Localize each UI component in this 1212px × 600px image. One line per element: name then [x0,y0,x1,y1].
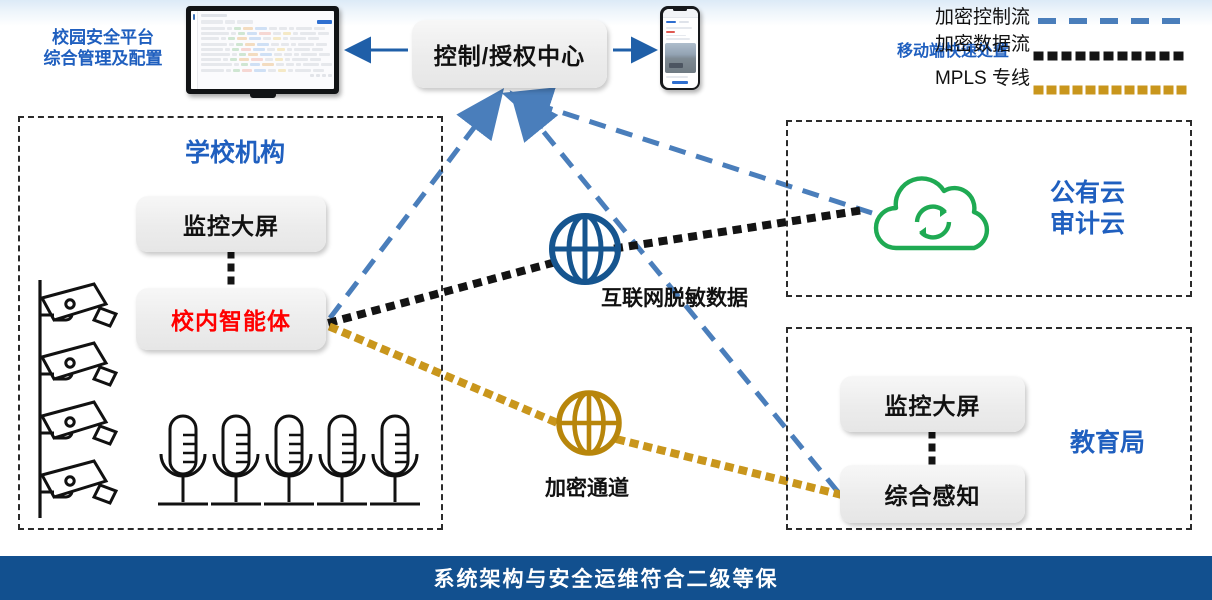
globe-icon-internet [547,211,623,287]
school-agent-box[interactable]: 校内智能体 [136,288,326,350]
platform-label-line1: 校园安全平台 [28,28,178,49]
legend-item-control-flow: 加密控制流 [900,8,1030,35]
microphone-icon [317,416,367,504]
school-monitor-screen-label: 监控大屏 [183,207,279,241]
cloud-region-label-line2: 审计云 [1050,209,1180,240]
school-monitor-screen-box[interactable]: 监控大屏 [136,196,326,252]
legend: 加密控制流 加密数据流 MPLS 专线 [900,8,1030,103]
cloud-region-label-line1: 公有云 [1050,178,1180,209]
control-center-label: 控制/授权中心 [434,37,585,71]
microphone-icon [370,416,420,504]
platform-label-line2: 综合管理及配置 [28,49,178,70]
microphone-icon [264,416,314,504]
bureau-comprehensive-sensing-box[interactable]: 综合感知 [840,465,1025,523]
platform-label: 校园安全平台 综合管理及配置 [28,28,178,69]
school-region-label: 学校机构 [110,138,360,169]
microphone-icon [211,416,261,504]
surveillance-camera-icon [40,461,116,503]
diagram-canvas: 校园安全平台 综合管理及配置 [0,0,1212,600]
surveillance-camera-icon [40,284,116,326]
bureau-comprehensive-sensing-label: 综合感知 [885,477,981,511]
bureau-monitor-screen-label: 监控大屏 [885,387,981,421]
microphone-icon [158,416,208,504]
surveillance-camera-icon [40,343,116,385]
compliance-banner-text: 系统架构与安全运维符合二级等保 [434,563,779,593]
top-gradient-strip [0,0,1212,26]
camera-group [30,278,140,520]
bureau-monitor-screen-box[interactable]: 监控大屏 [840,376,1025,432]
internet-node-label: 互联网脱敏数据 [601,282,748,312]
bureau-region-label: 教育局 [1070,428,1200,459]
mobile-phone-icon [660,6,700,90]
tunnel-node-label: 加密通道 [545,472,629,502]
compliance-banner: 系统架构与安全运维符合二级等保 [0,556,1212,600]
cloud-sync-icon [866,164,1006,256]
legend-item-mpls: MPLS 专线 [900,69,1030,103]
cloud-region-label: 公有云 审计云 [1050,178,1180,239]
surveillance-camera-icon [40,402,116,444]
desktop-monitor-icon [186,6,339,94]
microphone-group [156,412,426,522]
school-agent-label: 校内智能体 [171,302,291,336]
globe-icon-tunnel [554,388,624,458]
control-authorization-center-box[interactable]: 控制/授权中心 [412,20,607,88]
legend-item-data-flow: 加密数据流 [900,35,1030,69]
